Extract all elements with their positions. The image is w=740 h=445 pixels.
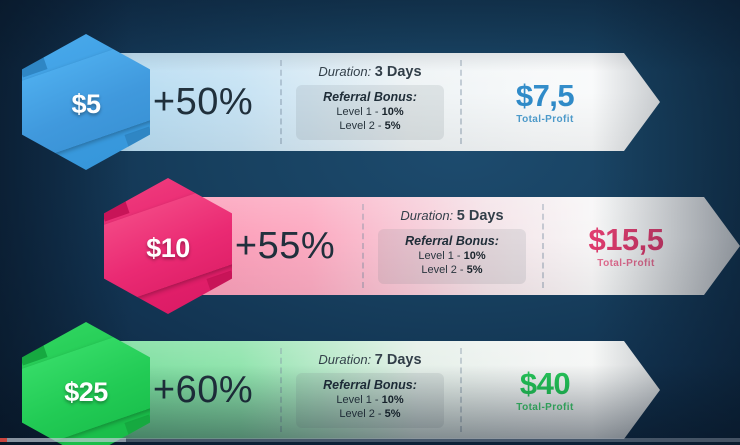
details-cell-25: Duration: 7 Days Referral Bonus: Level 1… <box>280 341 460 439</box>
plan-deposit-5: $5 <box>22 36 150 172</box>
divider-left-25 <box>280 348 282 432</box>
profit-cell-5: $7,5 Total-Profit <box>460 53 660 151</box>
duration-label-10: Duration: <box>400 208 453 223</box>
plan-banner-5[interactable]: +50% Duration: 3 Days Referral Bonus: Le… <box>108 53 660 151</box>
details-cell-5: Duration: 3 Days Referral Bonus: Level 1… <box>280 53 460 151</box>
level1-value-10: 10% <box>464 250 486 262</box>
divider-left-10 <box>362 204 364 288</box>
plan-row-25: +60% Duration: 7 Days Referral Bonus: Le… <box>0 341 740 439</box>
duration-value-25: 7 Days <box>375 352 422 368</box>
level1-value-5: 10% <box>382 106 404 118</box>
plan-profit-amount-5: $7,5 <box>516 80 574 111</box>
referral-bonus-title-5: Referral Bonus: <box>310 90 430 104</box>
plan-profit-amount-25: $40 <box>520 368 570 399</box>
level2-label-10: Level 2 - <box>421 264 463 276</box>
referral-bonus-title-25: Referral Bonus: <box>310 378 430 392</box>
plan-profit-amount-10: $15,5 <box>588 224 663 255</box>
profit-cell-25: $40 Total-Profit <box>460 341 660 439</box>
referral-bonus-box-25: Referral Bonus: Level 1 - 10% Level 2 - … <box>296 373 444 428</box>
plan-badge-25[interactable]: $25 <box>22 322 150 445</box>
duration-label-5: Duration: <box>318 64 371 79</box>
plan-percent-10: +55% <box>235 227 335 265</box>
plan-percent-25: +60% <box>153 371 253 409</box>
referral-level2-10: Level 2 - 5% <box>392 264 512 278</box>
video-progress-buffered <box>7 438 125 442</box>
plan-profit-label-25: Total-Profit <box>516 402 573 413</box>
plan-banner-25[interactable]: +60% Duration: 7 Days Referral Bonus: Le… <box>108 341 660 439</box>
plan-duration-10: Duration: 5 Days <box>400 208 503 224</box>
divider-right-25 <box>460 348 462 432</box>
level1-label-25: Level 1 - <box>336 394 378 406</box>
plan-duration-25: Duration: 7 Days <box>318 352 421 368</box>
video-progress-bar[interactable] <box>0 438 740 442</box>
video-progress-played <box>0 438 7 442</box>
divider-left-5 <box>280 60 282 144</box>
referral-bonus-title-10: Referral Bonus: <box>392 234 512 248</box>
profit-cell-10: $15,5 Total-Profit <box>542 197 740 295</box>
plan-row-5: +50% Duration: 3 Days Referral Bonus: Le… <box>0 53 740 151</box>
details-cell-10: Duration: 5 Days Referral Bonus: Level 1… <box>362 197 542 295</box>
level1-label-10: Level 1 - <box>418 250 460 262</box>
referral-bonus-box-10: Referral Bonus: Level 1 - 10% Level 2 - … <box>378 229 526 284</box>
level2-value-10: 5% <box>467 264 483 276</box>
divider-right-5 <box>460 60 462 144</box>
plan-duration-5: Duration: 3 Days <box>318 64 421 80</box>
plan-profit-label-10: Total-Profit <box>597 258 654 269</box>
referral-bonus-box-5: Referral Bonus: Level 1 - 10% Level 2 - … <box>296 85 444 140</box>
plan-deposit-10: $10 <box>104 180 232 316</box>
plan-badge-5[interactable]: $5 <box>22 34 150 170</box>
plan-deposit-25: $25 <box>22 324 150 445</box>
level2-value-5: 5% <box>385 120 401 132</box>
referral-level1-5: Level 1 - 10% <box>310 106 430 120</box>
duration-label-25: Duration: <box>318 352 371 367</box>
level1-value-25: 10% <box>382 394 404 406</box>
plan-badge-10[interactable]: $10 <box>104 178 232 314</box>
level2-value-25: 5% <box>385 408 401 420</box>
level2-label-25: Level 2 - <box>339 408 381 420</box>
referral-level2-5: Level 2 - 5% <box>310 120 430 134</box>
referral-level1-10: Level 1 - 10% <box>392 250 512 264</box>
plan-row-10: +55% Duration: 5 Days Referral Bonus: Le… <box>0 197 740 295</box>
referral-level2-25: Level 2 - 5% <box>310 408 430 422</box>
level2-label-5: Level 2 - <box>339 120 381 132</box>
plan-profit-label-5: Total-Profit <box>516 114 573 125</box>
level1-label-5: Level 1 - <box>336 106 378 118</box>
referral-level1-25: Level 1 - 10% <box>310 394 430 408</box>
duration-value-5: 3 Days <box>375 64 422 80</box>
plan-percent-5: +50% <box>153 83 253 121</box>
plan-banner-10[interactable]: +55% Duration: 5 Days Referral Bonus: Le… <box>190 197 740 295</box>
pricing-plans-graphic: +50% Duration: 3 Days Referral Bonus: Le… <box>0 0 740 445</box>
duration-value-10: 5 Days <box>457 208 504 224</box>
divider-right-10 <box>542 204 544 288</box>
